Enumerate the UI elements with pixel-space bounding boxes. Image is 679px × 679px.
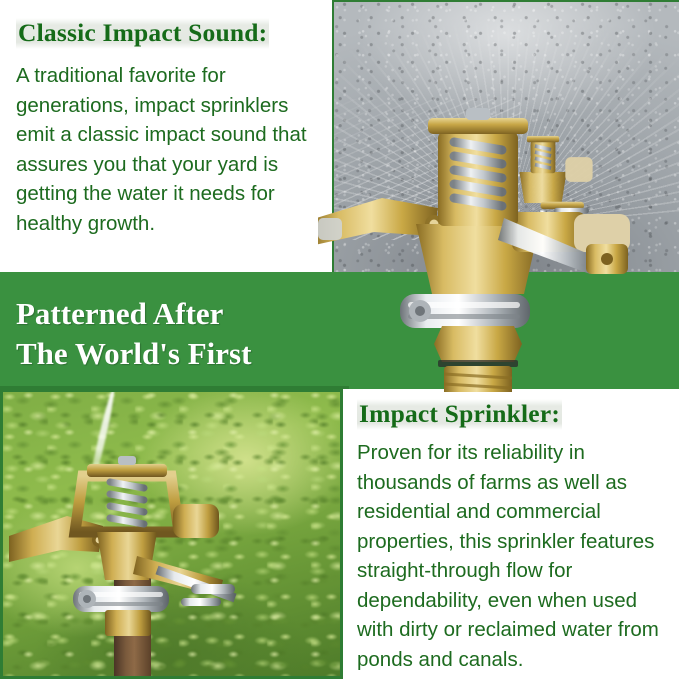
sprinkler-illustration-foliage bbox=[7, 444, 297, 674]
classic-heading: Classic Impact Sound: bbox=[16, 18, 269, 49]
sprinkler-collar bbox=[73, 586, 169, 612]
classic-body-text: A traditional favorite for generations, … bbox=[16, 61, 316, 238]
sprinkler-deflector-paddle bbox=[173, 504, 219, 538]
impact-heading: Impact Sprinkler: bbox=[357, 399, 562, 430]
banner-heading: Patterned AfterThe World's First bbox=[16, 294, 251, 374]
panel-impact-sprinkler: Impact Sprinkler: Proven for its reliabi… bbox=[349, 390, 679, 679]
sprinkler-top-cap bbox=[118, 456, 136, 465]
impact-body-text: Proven for its reliability in thousands … bbox=[357, 438, 679, 674]
panel-classic-impact-sound: Classic Impact Sound: A traditional favo… bbox=[0, 0, 332, 272]
sprinkler-swing-arm bbox=[9, 516, 103, 562]
sprinkler-top-cap bbox=[466, 108, 490, 120]
sprinkler-spring bbox=[110, 482, 144, 524]
sprinkler-illustration-main bbox=[318, 0, 678, 392]
photo-sprinkler-foliage bbox=[0, 389, 343, 679]
banner-line-2: The World's First bbox=[16, 336, 251, 371]
infographic-page: Patterned AfterThe World's First bbox=[0, 0, 679, 679]
sprinkler-hex-nut bbox=[434, 326, 522, 362]
sprinkler-collar bbox=[400, 294, 530, 328]
sprinkler-threaded-inlet bbox=[444, 366, 512, 392]
banner-line-1: Patterned After bbox=[16, 296, 223, 331]
sprinkler-primary bbox=[318, 108, 630, 392]
